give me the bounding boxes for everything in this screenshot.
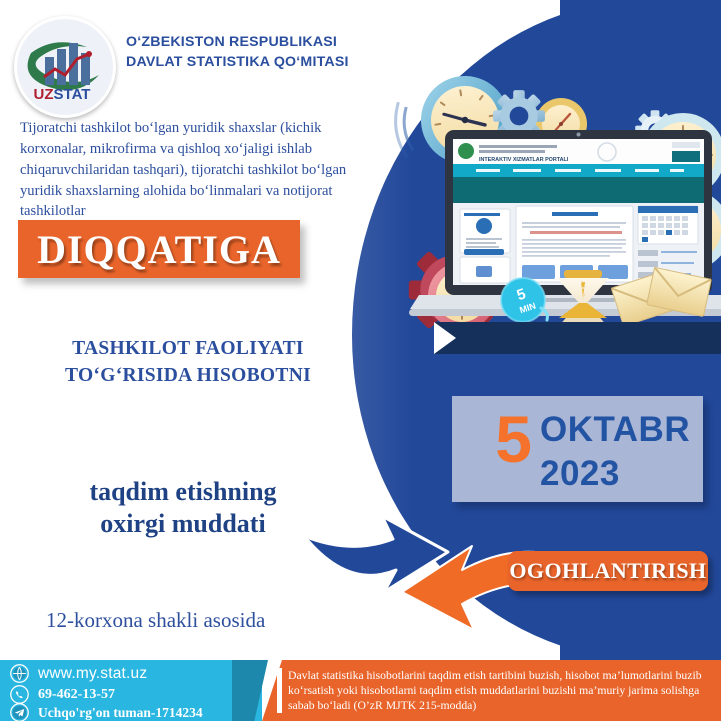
- attention-banner: DIQQATIGA: [18, 220, 300, 278]
- report-heading: TASHKILOT FAOLIYATI TO‘G‘RISIDA HISOBOTN…: [38, 336, 338, 390]
- intro-paragraph: Tijoratchi tashkilot bo‘lgan yuridik sha…: [20, 118, 360, 222]
- footer-telegram-text: Uchqo'rg'on tuman-1714234: [38, 705, 203, 721]
- deadline-line-2: oxirgi muddati: [38, 508, 328, 540]
- footer-divider-wedge: [232, 660, 268, 721]
- report-heading-line-1: TASHKILOT FAOLIYATI: [38, 336, 338, 363]
- report-heading-line-2: TO‘G‘RISIDA HISOBOTNI: [38, 363, 338, 390]
- uzstat-logo: UZSTAT: [14, 16, 116, 118]
- warning-badge-label: OGOHLANTIRISH: [509, 558, 706, 584]
- legal-accent-bar: [277, 668, 282, 713]
- svg-text:UZSTAT: UZSTAT: [34, 86, 91, 103]
- navy-ribbon: [435, 322, 721, 354]
- date-day: 5: [456, 406, 532, 472]
- globe-icon: [10, 664, 29, 683]
- deadline-text: taqdim etishning oxirgi muddati: [38, 476, 328, 539]
- footer-legal-text: Davlat statistika hisobotlarini taqdim e…: [288, 668, 712, 714]
- deadline-line-1: taqdim etishning: [38, 476, 328, 508]
- organization-title: O‘ZBEKISTON RESPUBLIKASI DAVLAT STATISTI…: [126, 32, 386, 72]
- poster-root: INTERAKTIV XIZMATLAR PORTALI: [0, 0, 721, 721]
- form-note: 12-korxona shakli asosida: [46, 608, 366, 633]
- uzstat-logo-icon: UZSTAT: [17, 19, 107, 109]
- footer-bar: www.my.stat.uz 69-462-13-57 Uchqo'rg'on …: [0, 660, 721, 721]
- attention-banner-label: DIQQATIGA: [37, 226, 281, 273]
- footer-website-row[interactable]: www.my.stat.uz: [10, 664, 147, 683]
- title-line-2: DAVLAT STATISTIKA QO‘MITASI: [126, 52, 386, 72]
- footer-phone-text: 69-462-13-57: [38, 687, 115, 703]
- date-year: 2023: [540, 456, 620, 491]
- phone-icon: [10, 685, 29, 704]
- telegram-icon: [10, 703, 29, 721]
- deadline-date-box: 5 OKTABR 2023: [452, 396, 703, 502]
- footer-phone-row[interactable]: 69-462-13-57: [10, 685, 115, 704]
- warning-badge: OGOHLANTIRISH: [508, 551, 708, 591]
- date-month: OKTABR: [540, 412, 690, 447]
- title-line-1: O‘ZBEKISTON RESPUBLIKASI: [126, 32, 386, 52]
- footer-telegram-row[interactable]: Uchqo'rg'on tuman-1714234: [10, 703, 203, 721]
- footer-website-text: www.my.stat.uz: [38, 665, 147, 683]
